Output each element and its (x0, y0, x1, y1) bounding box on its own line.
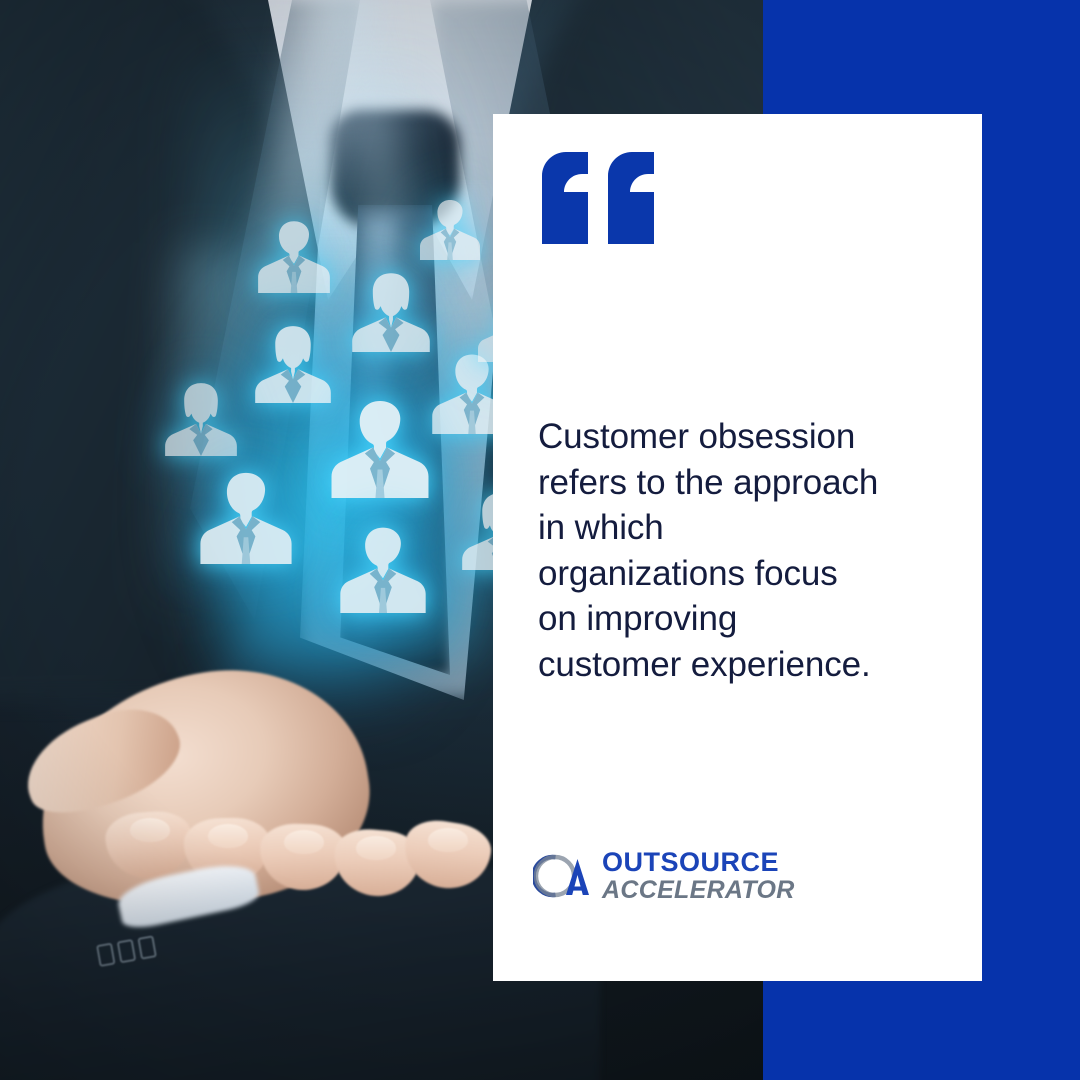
logo-line-accelerator: ACCELERATOR (602, 878, 795, 903)
person-female-2-icon (255, 325, 331, 403)
outsource-accelerator-logo[interactable]: OUTSOURCE ACCELERATOR (533, 849, 795, 903)
quote-line-1: Customer obsession (538, 414, 938, 460)
ca-monogram-icon (533, 854, 591, 898)
quote-line-4: organizations focus (538, 551, 938, 597)
person-male-4-icon (330, 398, 430, 498)
quote-line-5: on improving (538, 596, 938, 642)
logo-line-outsource: OUTSOURCE (602, 849, 795, 876)
quote-line-3: in which (538, 505, 938, 551)
person-male-1-icon (258, 219, 330, 293)
poster-canvas: Customer obsessionrefers to the approach… (0, 0, 1080, 1080)
person-male-2-icon (420, 198, 480, 260)
quote-text: Customer obsessionrefers to the approach… (538, 414, 938, 687)
person-male-6-icon (340, 525, 426, 613)
double-quote-open-icon (542, 152, 654, 244)
quote-line-6: customer experience. (538, 642, 938, 688)
person-female-1-icon (352, 272, 430, 352)
quote-card: Customer obsessionrefers to the approach… (493, 114, 982, 981)
person-male-5-icon (200, 470, 292, 564)
quote-line-2: refers to the approach (538, 460, 938, 506)
person-female-3-icon (165, 382, 237, 456)
logo-wordmark: OUTSOURCE ACCELERATOR (602, 849, 795, 903)
